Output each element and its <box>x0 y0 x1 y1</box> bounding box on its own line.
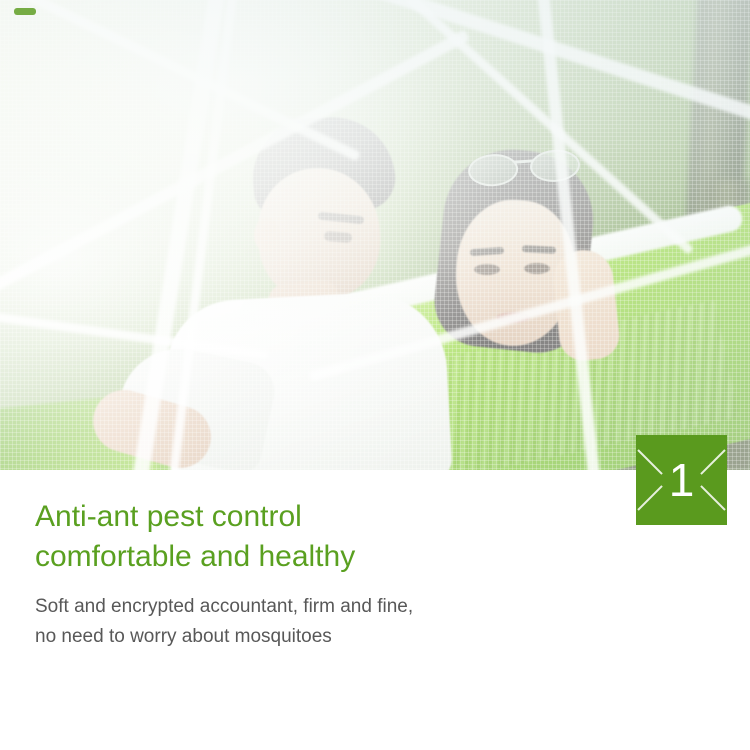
green-dash-mark <box>14 8 36 15</box>
feature-heading: Anti-ant pest control comfortable and he… <box>35 497 355 577</box>
photo-cool-overlay <box>0 0 750 470</box>
badge-number: 1 <box>636 435 727 525</box>
product-feature-banner: Anti-ant pest control comfortable and he… <box>0 0 750 750</box>
product-photo <box>0 0 750 470</box>
step-number-badge: 1 <box>636 435 727 525</box>
feature-subtitle: Soft and encrypted accountant, firm and … <box>35 592 413 652</box>
